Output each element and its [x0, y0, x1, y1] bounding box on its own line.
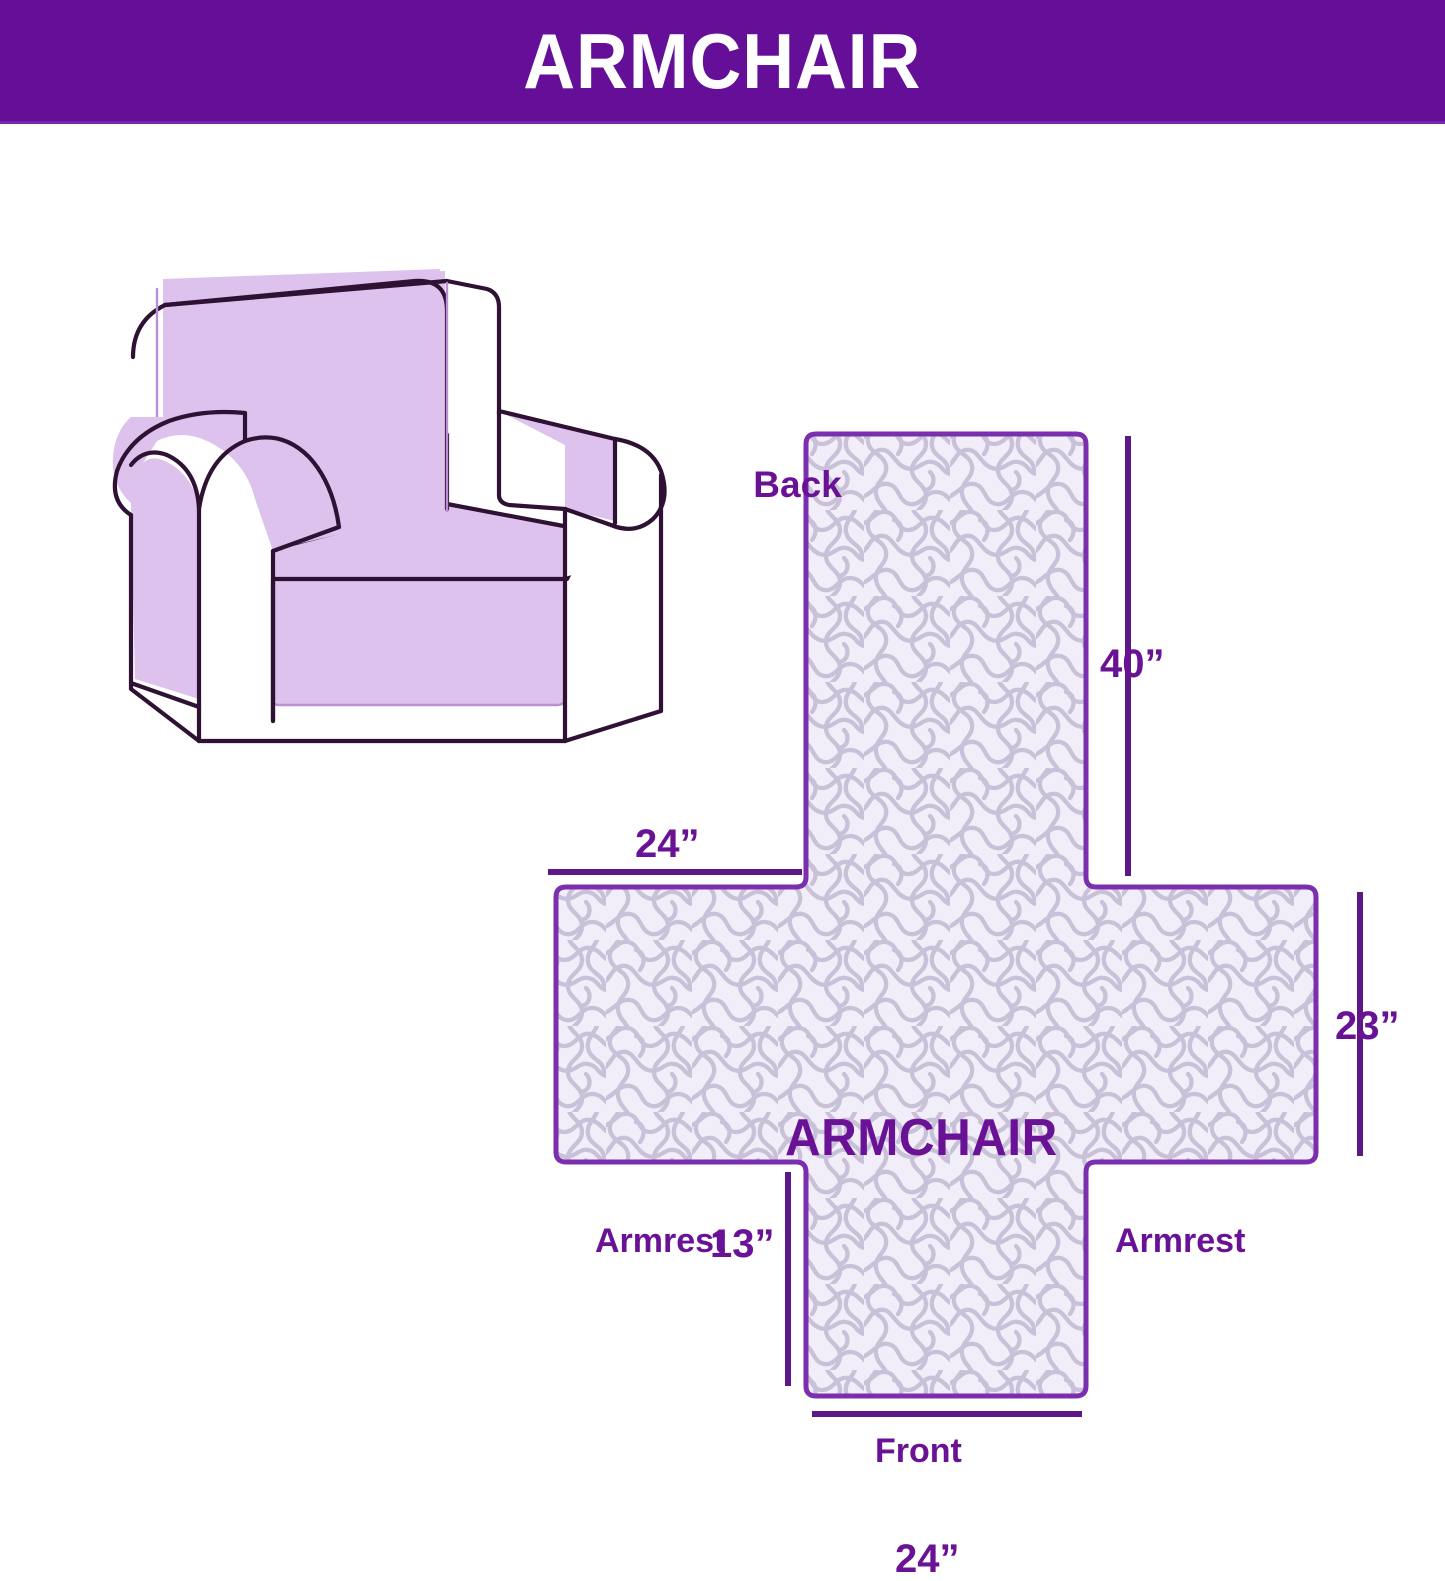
content-area: .oln { fill:none; stroke:#2e1133; stroke… [0, 124, 1445, 1445]
cover-outline [556, 434, 1316, 1396]
header-banner: ARMCHAIR [0, 0, 1445, 124]
page-title: ARMCHAIR [523, 22, 921, 100]
panel-label-front: Front [875, 1434, 962, 1468]
cover-diagram [520, 424, 1445, 1424]
dimension-label-front-width: 24” [895, 1539, 960, 1579]
